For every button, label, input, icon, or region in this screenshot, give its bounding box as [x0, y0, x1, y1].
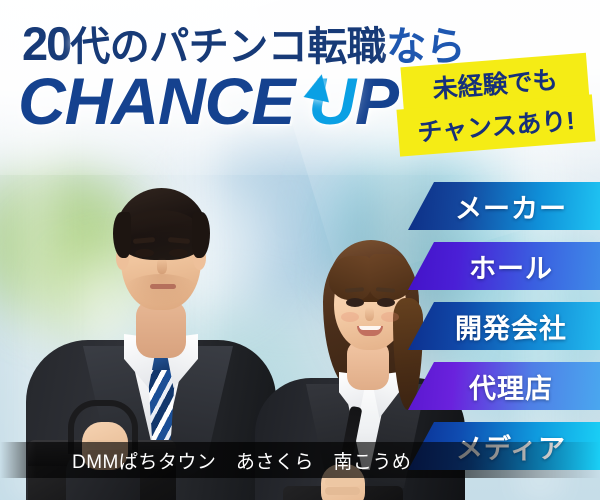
category-button-agency[interactable]: 代理店	[408, 362, 600, 410]
woman-hair-bang-right	[369, 254, 413, 300]
category-button-developer[interactable]: 開発会社	[408, 302, 600, 350]
category-label: 開発会社	[441, 307, 567, 346]
man-eye-right	[169, 249, 188, 257]
man-jaw-shading	[124, 274, 198, 306]
woman-finger	[325, 487, 360, 495]
woman-cheek-right	[381, 312, 399, 322]
man-mouth	[150, 284, 176, 289]
woman-eye-right	[377, 298, 395, 307]
category-button-maker[interactable]: メーカー	[408, 182, 600, 230]
woman-eye-left	[346, 298, 364, 307]
chance-up-logo: CHANCEUP	[18, 68, 398, 134]
advertisement-banner[interactable]: 20代のパチンコ転職なら CHANCEUP 未経験でも チャンスあり! メーカー…	[0, 0, 600, 500]
man-nose	[157, 258, 167, 274]
credit-text: DMMぱちタウン あさくら 南こうめ	[0, 447, 411, 474]
credit-bar: DMMぱちタウン あさくら 南こうめ	[0, 442, 600, 478]
category-button-hall[interactable]: ホール	[408, 242, 600, 290]
woman-finger	[325, 478, 361, 486]
woman-teeth	[359, 326, 381, 330]
woman-cheek-left	[341, 312, 359, 322]
category-list: メーカー ホール 開発会社 代理店 メディア	[408, 182, 600, 482]
man-hair-side-right	[192, 212, 210, 258]
category-label: 代理店	[455, 367, 553, 406]
man-eye-left	[135, 249, 154, 257]
logo-letter-p: P	[355, 64, 398, 138]
category-label: ホール	[455, 247, 553, 286]
logo-word-chance: CHANCE	[18, 64, 294, 138]
headline-number: 20	[22, 17, 70, 70]
man-hair-side-left	[113, 212, 131, 258]
headline-middle: 代のパチンコ転職	[70, 25, 386, 69]
woman-hair-bang-left	[329, 256, 371, 300]
up-arrow-icon	[304, 72, 335, 103]
category-label: メーカー	[441, 187, 567, 226]
woman-nose	[365, 307, 374, 321]
catch-badge: 未経験でも チャンスあり!	[398, 58, 598, 158]
